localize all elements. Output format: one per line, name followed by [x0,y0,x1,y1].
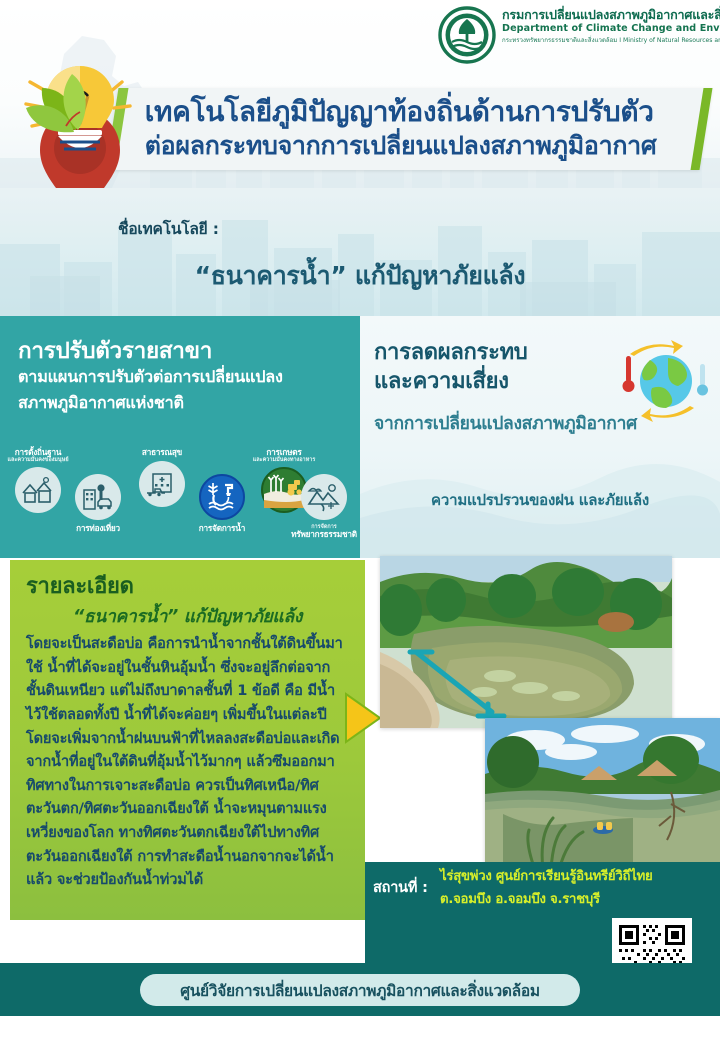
lightbulb-leaf-map-pin-icon [14,52,146,188]
header-band: กรมการเปลี่ยนแปลงสภาพภูมิอากาศและสิ่งแวด… [0,0,720,188]
dcce-logo-icon [436,6,498,64]
sector-item-tourism[interactable]: การท่องเที่ยว [62,474,134,533]
location-line1: ไร่สุขพ่วง ศูนย์การเรียนรู้อินทรีย์วิถีไ… [440,866,690,889]
sector-caption-tourism: การท่องเที่ยว [62,524,134,533]
sector-sublabel: และความมั่นคงของมนุษย์ [2,457,74,463]
sector-label: การท่องเที่ยว [62,524,134,533]
detail-title: รายละเอียด [26,568,134,603]
water-management-tap-river-icon [199,474,245,520]
mitigation-note: ความแปรปรวนของฝน และภัยแล้ง [360,488,720,512]
technology-name-band: ชื่อเทคโนโลยี : “ธนาคารน้ำ” แก้ปัญหาภัยแ… [0,188,720,316]
location-label: สถานที่ : [373,876,428,899]
sector-label: การตั้งถิ่นฐาน [2,448,74,457]
pond-aerial-photo [380,556,672,728]
sector-panel-subheading-line2: สภาพภูมิอากาศแห่งชาติ [18,390,348,416]
thermometer-hot [623,356,635,392]
sector-label: ทรัพยากรธรรมชาติ [288,530,360,539]
technology-label: ชื่อเทคโนโลยี : [118,216,219,241]
sector-label: สาธารณสุข [126,448,198,457]
sector-caption-public-health: สาธารณสุข [126,448,198,457]
settlement-houses-icon [15,467,61,513]
sector-icons-row: การตั้งถิ่นฐาน และความมั่นคงของมนุษย์ [0,448,360,558]
title-ribbon: เทคโนโลยีภูมิปัญญาท้องถิ่นด้านการปรับตัว… [106,88,713,170]
dcce-org-th: กรมการเปลี่ยนแปลงสภาพภูมิอากาศและสิ่งแวด… [502,8,716,22]
sector-label: การจัดการน้ำ [186,524,258,533]
sector-panel-heading: การปรับตัวรายสาขา [18,332,212,368]
sector-sublabel: และความมั่นคงทางอาหาร [248,457,320,463]
detail-panel: รายละเอียด “ธนาคารน้ำ” แก้ปัญหาภัยแล้ง โ… [10,560,365,920]
sector-caption-settlement: การตั้งถิ่นฐาน และความมั่นคงของมนุษย์ [2,448,74,463]
sector-panel-subheading-line1: ตามแผนการปรับตัวต่อการเปลี่ยนแปลง [18,364,348,390]
mitigation-heading-line2: และความเสี่ยง [374,367,604,396]
sector-item-natural-resources[interactable]: การจัดการ ทรัพยากรธรรมชาติ [288,474,360,539]
footer-whitespace [0,1016,720,1040]
dcce-text-block: กรมการเปลี่ยนแปลงสภาพภูมิอากาศและสิ่งแวด… [502,8,716,45]
thermometer-cold [697,364,708,396]
pond-waterside-photo [485,718,720,870]
sector-caption-agriculture: การเกษตร และความมั่นคงทางอาหาร [248,448,320,463]
location-value: ไร่สุขพ่วง ศูนย์การเรียนรู้อินทรีย์วิถีไ… [440,866,690,912]
tourism-city-car-icon [75,474,121,520]
sector-caption-water-management: การจัดการน้ำ [186,524,258,533]
globe-thermometer-icon [610,336,714,428]
detail-body: โดยจะเป็นสะดือบ่อ คือการนำน้ำจากชั้นใต้ด… [26,632,348,892]
sector-panel-subheading: ตามแผนการปรับตัวต่อการเปลี่ยนแปลง สภาพภู… [18,364,348,416]
sector-caption-natural-resources: การจัดการ ทรัพยากรธรรมชาติ [288,524,360,539]
dcce-ministry: กระทรวงทรัพยากรธรรมชาติและสิ่งแวดล้อม I … [502,37,716,45]
footer-text: ศูนย์วิจัยการเปลี่ยนแปลงสภาพภูมิอากาศและ… [180,978,540,1003]
dcce-org-en: Department of Climate Change and Environ… [502,23,716,35]
technology-value: “ธนาคารน้ำ” แก้ปัญหาภัยแล้ง [0,256,720,296]
page-title-line1: เทคโนโลยีภูมิปัญญาท้องถิ่นด้านการปรับตัว [145,94,686,130]
poster-root: กรมการเปลี่ยนแปลงสภาพภูมิอากาศและสิ่งแวด… [0,0,720,1040]
detail-subtitle: “ธนาคารน้ำ” แก้ปัญหาภัยแล้ง [10,602,365,630]
location-line2: ต.จอมบึง อ.จอมบึง จ.ราชบุรี [440,889,690,912]
natural-resources-mountain-icon [301,474,347,520]
mitigation-heading: การลดผลกระทบ และความเสี่ยง [374,338,604,397]
sector-label: การเกษตร [248,448,320,457]
footer-pill[interactable]: ศูนย์วิจัยการเปลี่ยนแปลงสภาพภูมิอากาศและ… [140,974,580,1006]
public-health-hospital-icon [139,461,185,507]
page-title-line2: ต่อผลกระทบจากการเปลี่ยนแปลงสภาพภูมิอากาศ [145,130,686,161]
yellow-play-arrow-icon [344,690,384,746]
mitigation-heading-line1: การลดผลกระทบ [374,338,604,367]
mitigation-panel: การลดผลกระทบ และความเสี่ยง จากการเปลี่ยน… [360,316,720,558]
